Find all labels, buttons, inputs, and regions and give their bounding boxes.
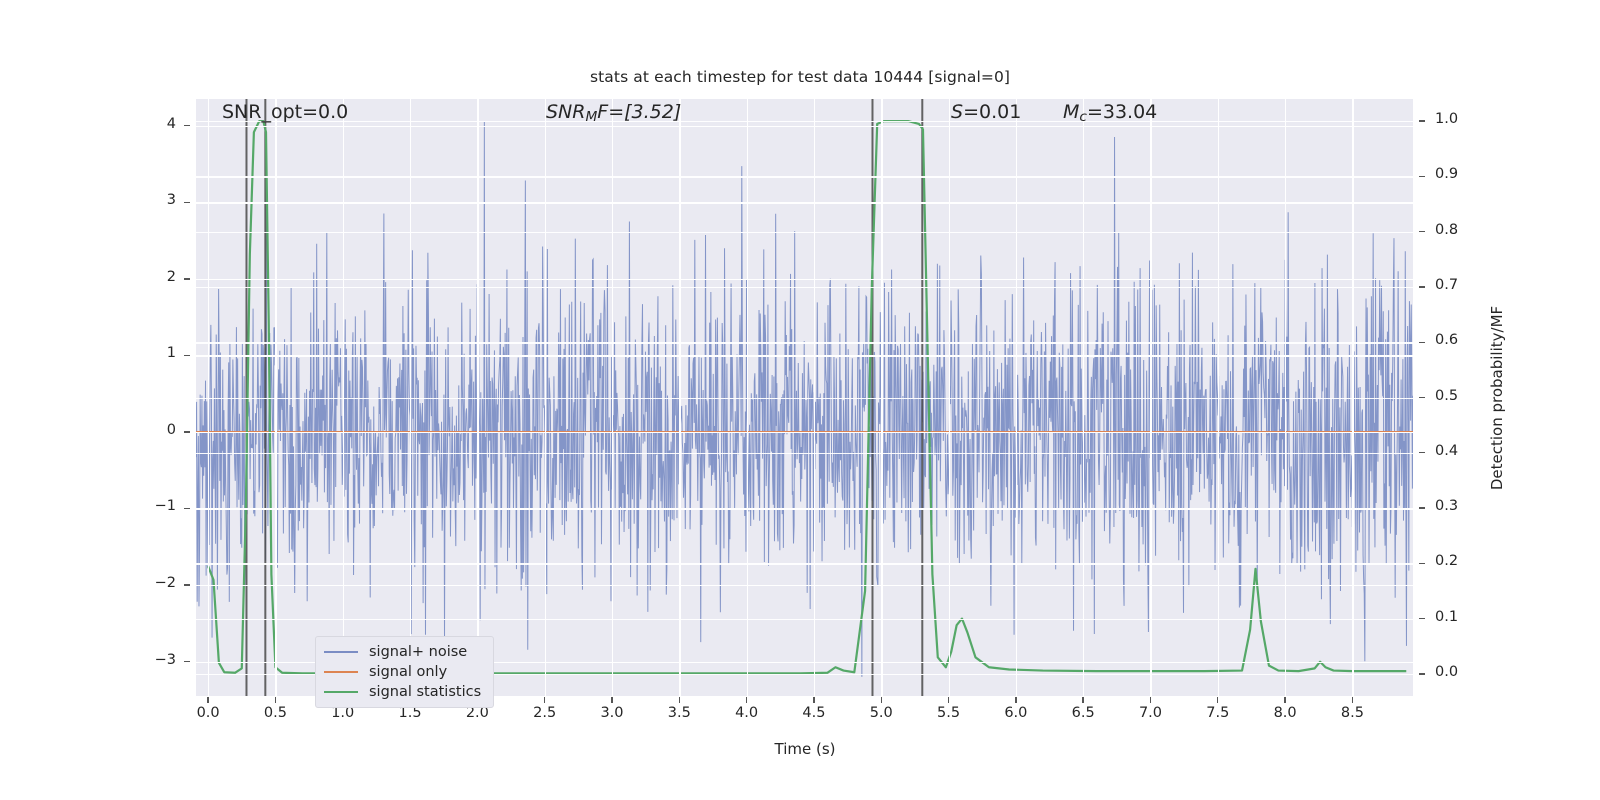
gridline-vertical <box>545 99 546 696</box>
x-axis-label: Time (s) <box>775 740 836 758</box>
gridline-horizontal <box>196 126 1413 127</box>
y-tick-right-mark <box>1419 176 1425 177</box>
gridline-vertical <box>343 99 344 696</box>
y-tick-left: −1 <box>124 498 176 514</box>
y-tick-right-mark <box>1419 452 1425 453</box>
x-tick-mark <box>1150 697 1151 703</box>
x-tick-mark <box>948 697 949 703</box>
gridline-vertical <box>1150 99 1151 696</box>
gridline-vertical <box>275 99 276 696</box>
y-tick-right: 0.5 <box>1435 388 1487 404</box>
legend-swatch-icon <box>324 671 358 673</box>
y-axis-right-label: Detection probability/MF <box>1488 306 1506 490</box>
y-tick-left: 4 <box>124 116 176 132</box>
gridline-vertical <box>410 99 411 696</box>
x-tick-mark <box>611 697 612 703</box>
legend-item-label: signal statistics <box>369 684 481 700</box>
y-tick-right-mark <box>1419 231 1425 232</box>
y-tick-right-mark <box>1419 673 1425 674</box>
gridline-vertical <box>1083 99 1084 696</box>
figure-canvas: stats at each timestep for test data 104… <box>0 0 1600 800</box>
noise-trace <box>196 122 1413 677</box>
gridline-horizontal <box>196 279 1413 280</box>
x-tick-mark <box>813 697 814 703</box>
annotation-snr-mf: SNRMF=[3.52] <box>546 101 681 125</box>
gridline-horizontal-right <box>196 563 1413 564</box>
y-tick-left-mark <box>184 661 190 662</box>
gridline-horizontal-right <box>196 287 1413 288</box>
y-tick-left-mark <box>184 202 190 203</box>
gridline-vertical <box>1016 99 1017 696</box>
y-tick-right: 0.8 <box>1435 222 1487 238</box>
y-tick-right-mark <box>1419 507 1425 508</box>
gridline-vertical <box>1285 99 1286 696</box>
y-tick-left: 0 <box>124 422 176 438</box>
annotation-snr-opt: SNR_opt=0.0 <box>222 101 348 123</box>
gridline-vertical <box>208 99 209 696</box>
legend-item[interactable]: signal+ noise <box>324 642 481 662</box>
y-tick-right-mark <box>1419 286 1425 287</box>
gridline-horizontal-right <box>196 619 1413 620</box>
y-tick-left-mark <box>184 508 190 509</box>
y-tick-right-mark <box>1419 618 1425 619</box>
gridline-horizontal <box>196 432 1413 433</box>
legend[interactable]: signal+ noisesignal onlysignal statistic… <box>315 636 494 708</box>
y-tick-right: 0.3 <box>1435 498 1487 514</box>
legend-item[interactable]: signal statistics <box>324 682 481 702</box>
x-tick: 8.5 <box>1312 705 1392 721</box>
gridline-vertical <box>679 99 680 696</box>
y-tick-left: 1 <box>124 345 176 361</box>
gridline-horizontal-right <box>196 453 1413 454</box>
gridline-vertical <box>814 99 815 696</box>
x-tick-mark <box>207 697 208 703</box>
y-tick-right: 0.0 <box>1435 664 1487 680</box>
y-tick-right-mark <box>1419 342 1425 343</box>
gridline-vertical <box>747 99 748 696</box>
x-tick-mark <box>1352 697 1353 703</box>
y-tick-right: 0.6 <box>1435 332 1487 348</box>
gridline-horizontal-right <box>196 398 1413 399</box>
gridline-vertical <box>1352 99 1353 696</box>
y-tick-left-mark <box>184 278 190 279</box>
gridline-horizontal-right <box>196 232 1413 233</box>
legend-item-label: signal only <box>369 664 447 680</box>
gridline-horizontal <box>196 355 1413 356</box>
gridline-vertical <box>881 99 882 696</box>
legend-item[interactable]: signal only <box>324 662 481 682</box>
x-tick-mark <box>544 697 545 703</box>
x-tick-mark <box>1284 697 1285 703</box>
gridline-horizontal-right <box>196 508 1413 509</box>
gridline-vertical <box>949 99 950 696</box>
y-tick-right-mark <box>1419 563 1425 564</box>
y-tick-left-mark <box>184 355 190 356</box>
gridline-horizontal-right <box>196 176 1413 177</box>
y-tick-left: 2 <box>124 269 176 285</box>
gridline-horizontal-right <box>196 121 1413 122</box>
gridline-horizontal <box>196 202 1413 203</box>
y-tick-right: 1.0 <box>1435 111 1487 127</box>
x-tick-mark <box>679 697 680 703</box>
annotation-significance: S=0.01 <box>951 101 1021 123</box>
legend-swatch-icon <box>324 691 358 693</box>
gridline-horizontal-right <box>196 342 1413 343</box>
chart-title: stats at each timestep for test data 104… <box>0 68 1600 86</box>
gridline-vertical <box>1218 99 1219 696</box>
y-tick-left: −3 <box>124 652 176 668</box>
x-tick-mark <box>1217 697 1218 703</box>
x-tick-mark <box>1015 697 1016 703</box>
y-tick-right: 0.1 <box>1435 609 1487 625</box>
x-tick-mark <box>746 697 747 703</box>
y-tick-left-mark <box>184 431 190 432</box>
x-tick-mark <box>1082 697 1083 703</box>
gridline-vertical <box>612 99 613 696</box>
x-tick-mark <box>275 697 276 703</box>
gridline-horizontal <box>196 585 1413 586</box>
legend-item-label: signal+ noise <box>369 644 467 660</box>
x-tick-mark <box>881 697 882 703</box>
y-tick-right: 0.2 <box>1435 553 1487 569</box>
legend-swatch-icon <box>324 651 358 653</box>
y-tick-right: 0.4 <box>1435 443 1487 459</box>
gridline-vertical <box>477 99 478 696</box>
y-tick-left: −2 <box>124 575 176 591</box>
y-tick-right-mark <box>1419 120 1425 121</box>
y-tick-right: 0.9 <box>1435 166 1487 182</box>
y-tick-left-mark <box>184 125 190 126</box>
annotation-chirp-mass: Mc=33.04 <box>1063 101 1157 125</box>
plot-area[interactable]: SNR_opt=0.0 SNRMF=[3.52] S=0.01 Mc=33.04 <box>196 99 1413 696</box>
y-tick-right-mark <box>1419 397 1425 398</box>
y-tick-left: 3 <box>124 192 176 208</box>
y-tick-left-mark <box>184 584 190 585</box>
y-tick-right: 0.7 <box>1435 277 1487 293</box>
